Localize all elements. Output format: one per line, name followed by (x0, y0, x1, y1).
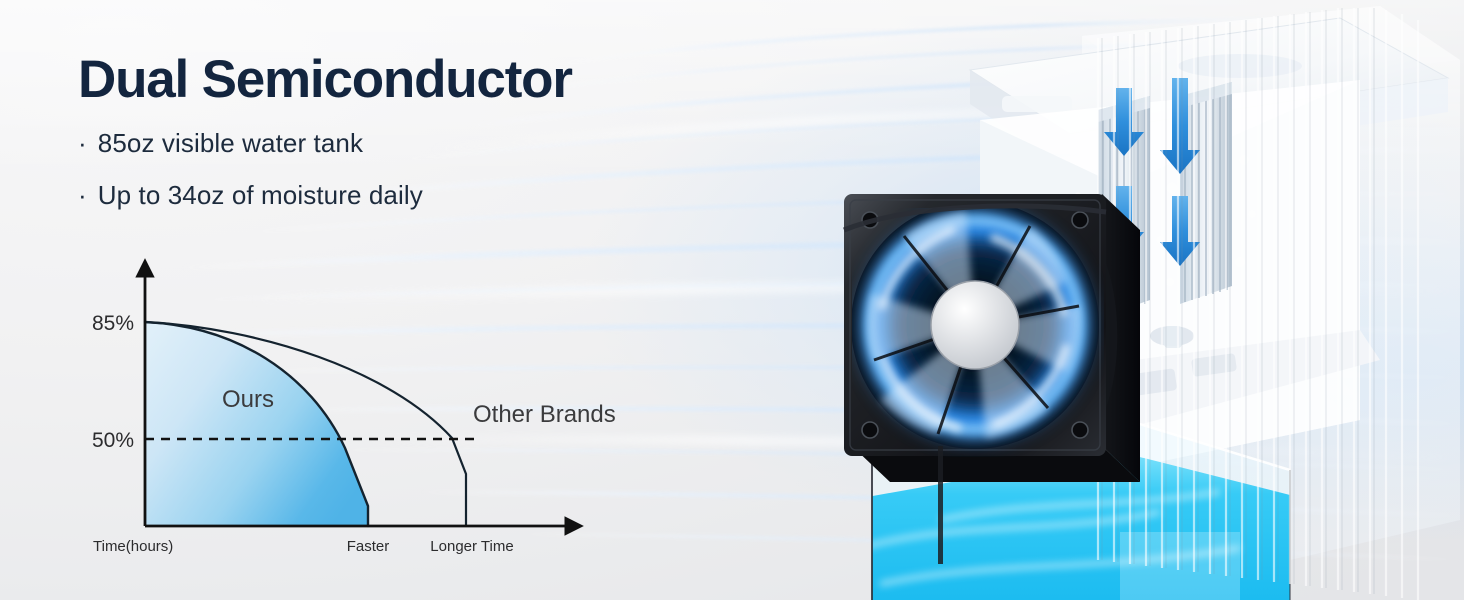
list-item: · Up to 34oz of moisture daily (78, 182, 678, 208)
fan-mount-post (938, 446, 943, 564)
page-title: Dual Semiconductor (78, 52, 678, 108)
list-item: · 85oz visible water tank (78, 130, 678, 156)
series-label-ours: Ours (222, 386, 274, 413)
feature-list: · 85oz visible water tank · Up to 34oz o… (78, 130, 678, 208)
series-label-other-brands: Other Brands (473, 401, 616, 428)
comparison-chart: 85% 50% Ours Other Brands Time(hours) Fa… (60, 238, 660, 568)
list-item-label: Up to 34oz of moisture daily (98, 182, 423, 208)
x-tick-label-longer-time: Longer Time (430, 538, 513, 555)
banner-root: Dual Semiconductor · 85oz visible water … (0, 0, 1464, 600)
x-axis-label-time: Time(hours) (93, 538, 173, 555)
cooling-fan (844, 194, 1140, 482)
copy-block: Dual Semiconductor · 85oz visible water … (78, 52, 678, 234)
shell-slats (1098, 8, 1418, 600)
list-item-label: 85oz visible water tank (98, 130, 363, 156)
x-tick-label-faster: Faster (347, 538, 390, 555)
bullet-dot-icon: · (78, 130, 87, 156)
product-illustration (820, 0, 1464, 600)
y-tick-label-50: 50% (92, 429, 134, 452)
bullet-dot-icon: · (78, 182, 87, 208)
y-tick-label-85: 85% (92, 312, 134, 335)
